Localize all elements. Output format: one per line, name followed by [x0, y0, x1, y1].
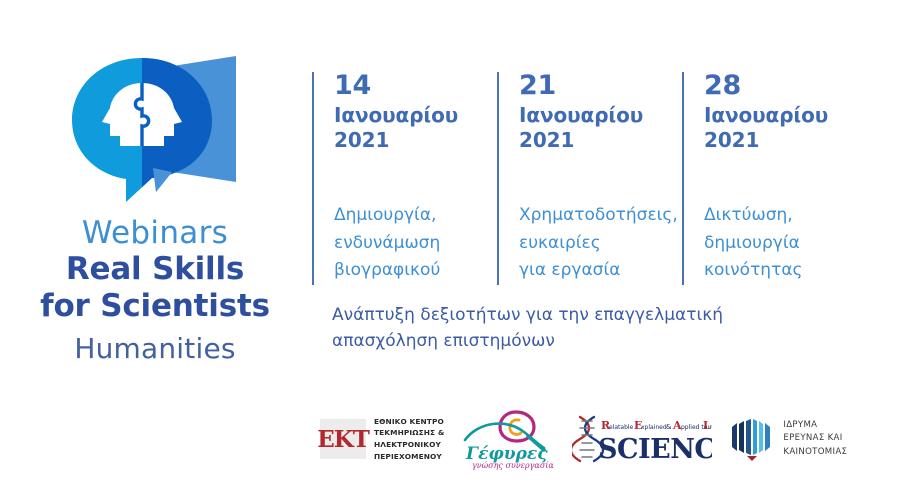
session-topic: Χρηματοδοτήσεις, ευκαιρίες για εργασία — [519, 202, 678, 285]
svg-text:elatable: elatable — [609, 424, 634, 431]
bubble-tail — [153, 168, 172, 192]
gefyres-tagline: γνώσης συνεργασίας — [472, 461, 554, 470]
column-divider — [682, 72, 684, 285]
science-acronym-line: R elatable E xplained & A pplied to L if… — [601, 419, 712, 432]
session-topic: Δικτύωση, δημιουργία κοινότητας — [704, 202, 863, 285]
sponsor-ekt: EKT ΕΘΝΙΚΟ ΚΕΝΤΡΟ ΤΕΚΜΗΡΙΩΣΗΣ & ΗΛΕΚΤΡΟΝ… — [320, 416, 444, 463]
column-divider — [312, 72, 314, 285]
brand-title-line2: for Scientists — [40, 288, 270, 325]
session-month: Ιανουαρίου — [704, 103, 867, 128]
session-column: 14 Ιανουαρίου 2021 Δημιουργία, ενδυνάμωσ… — [312, 72, 497, 287]
column-divider — [497, 72, 499, 285]
science-wordmark: SCIENCE — [598, 434, 712, 465]
session-topic: Δημιουργία, ενδυνάμωση βιογραφικού — [334, 202, 493, 285]
ekt-logo-icon: EKT — [320, 419, 366, 459]
idryma-bars — [732, 419, 770, 455]
session-day: 28 — [704, 72, 867, 99]
brand-title: Real Skills for Scientists — [40, 251, 270, 325]
svg-text:xplained: xplained — [641, 424, 667, 431]
svg-text:ife: ife — [708, 425, 712, 431]
idryma-name: ΙΔΡΥΜΑ ΕΡΕΥΝΑΣ ΚΑΙ ΚΑΙΝΟΤΟΜΙΑΣ — [783, 419, 847, 459]
session-year: 2021 — [519, 128, 682, 153]
ekt-monogram: EKT — [317, 426, 369, 453]
session-month: Ιανουαρίου — [334, 103, 497, 128]
webinars-logo-icon — [60, 50, 250, 210]
science-logo-icon: R elatable E xplained & A pplied to L if… — [572, 413, 712, 465]
brand-webinars: Webinars — [82, 216, 228, 251]
sponsor-science: R elatable E xplained & A pplied to L if… — [572, 413, 712, 465]
tagline: Ανάπτυξη δεξιοτήτων για την επαγγελματικ… — [332, 303, 812, 355]
session-column: 28 Ιανουαρίου 2021 Δικτύωση, δημιουργία … — [682, 72, 867, 287]
session-column: 21 Ιανουαρίου 2021 Χρηματοδοτήσεις, ευκα… — [497, 72, 682, 287]
session-year: 2021 — [704, 128, 867, 153]
ekt-name: ΕΘΝΙΚΟ ΚΕΝΤΡΟ ΤΕΚΜΗΡΙΩΣΗΣ & ΗΛΕΚΤΡΟΝΙΚΟΥ… — [374, 416, 444, 463]
session-day: 14 — [334, 72, 497, 99]
brand-block: Webinars Real Skills for Scientists Huma… — [0, 50, 310, 365]
svg-text:&: & — [666, 423, 672, 431]
session-columns: 14 Ιανουαρίου 2021 Δημιουργία, ενδυνάμωσ… — [312, 72, 892, 287]
session-day: 21 — [519, 72, 682, 99]
brand-subtitle: Humanities — [74, 333, 235, 365]
session-month: Ιανουαρίου — [519, 103, 682, 128]
idryma-logo-icon — [730, 416, 774, 462]
brand-title-line1: Real Skills — [66, 251, 244, 287]
poster-canvas: Webinars Real Skills for Scientists Huma… — [0, 0, 900, 500]
gefyres-logo-icon: Γέφυρες γνώσης συνεργασίας — [462, 408, 554, 470]
sponsor-idryma: ΙΔΡΥΜΑ ΕΡΕΥΝΑΣ ΚΑΙ ΚΑΙΝΟΤΟΜΙΑΣ — [730, 416, 847, 462]
session-year: 2021 — [334, 128, 497, 153]
sponsor-logo-strip: EKT ΕΘΝΙΚΟ ΚΕΝΤΡΟ ΤΕΚΜΗΡΙΩΣΗΣ & ΗΛΕΚΤΡΟΝ… — [320, 404, 892, 474]
sponsor-gefyres: Γέφυρες γνώσης συνεργασίας — [462, 408, 554, 470]
idryma-triangle — [747, 456, 757, 461]
